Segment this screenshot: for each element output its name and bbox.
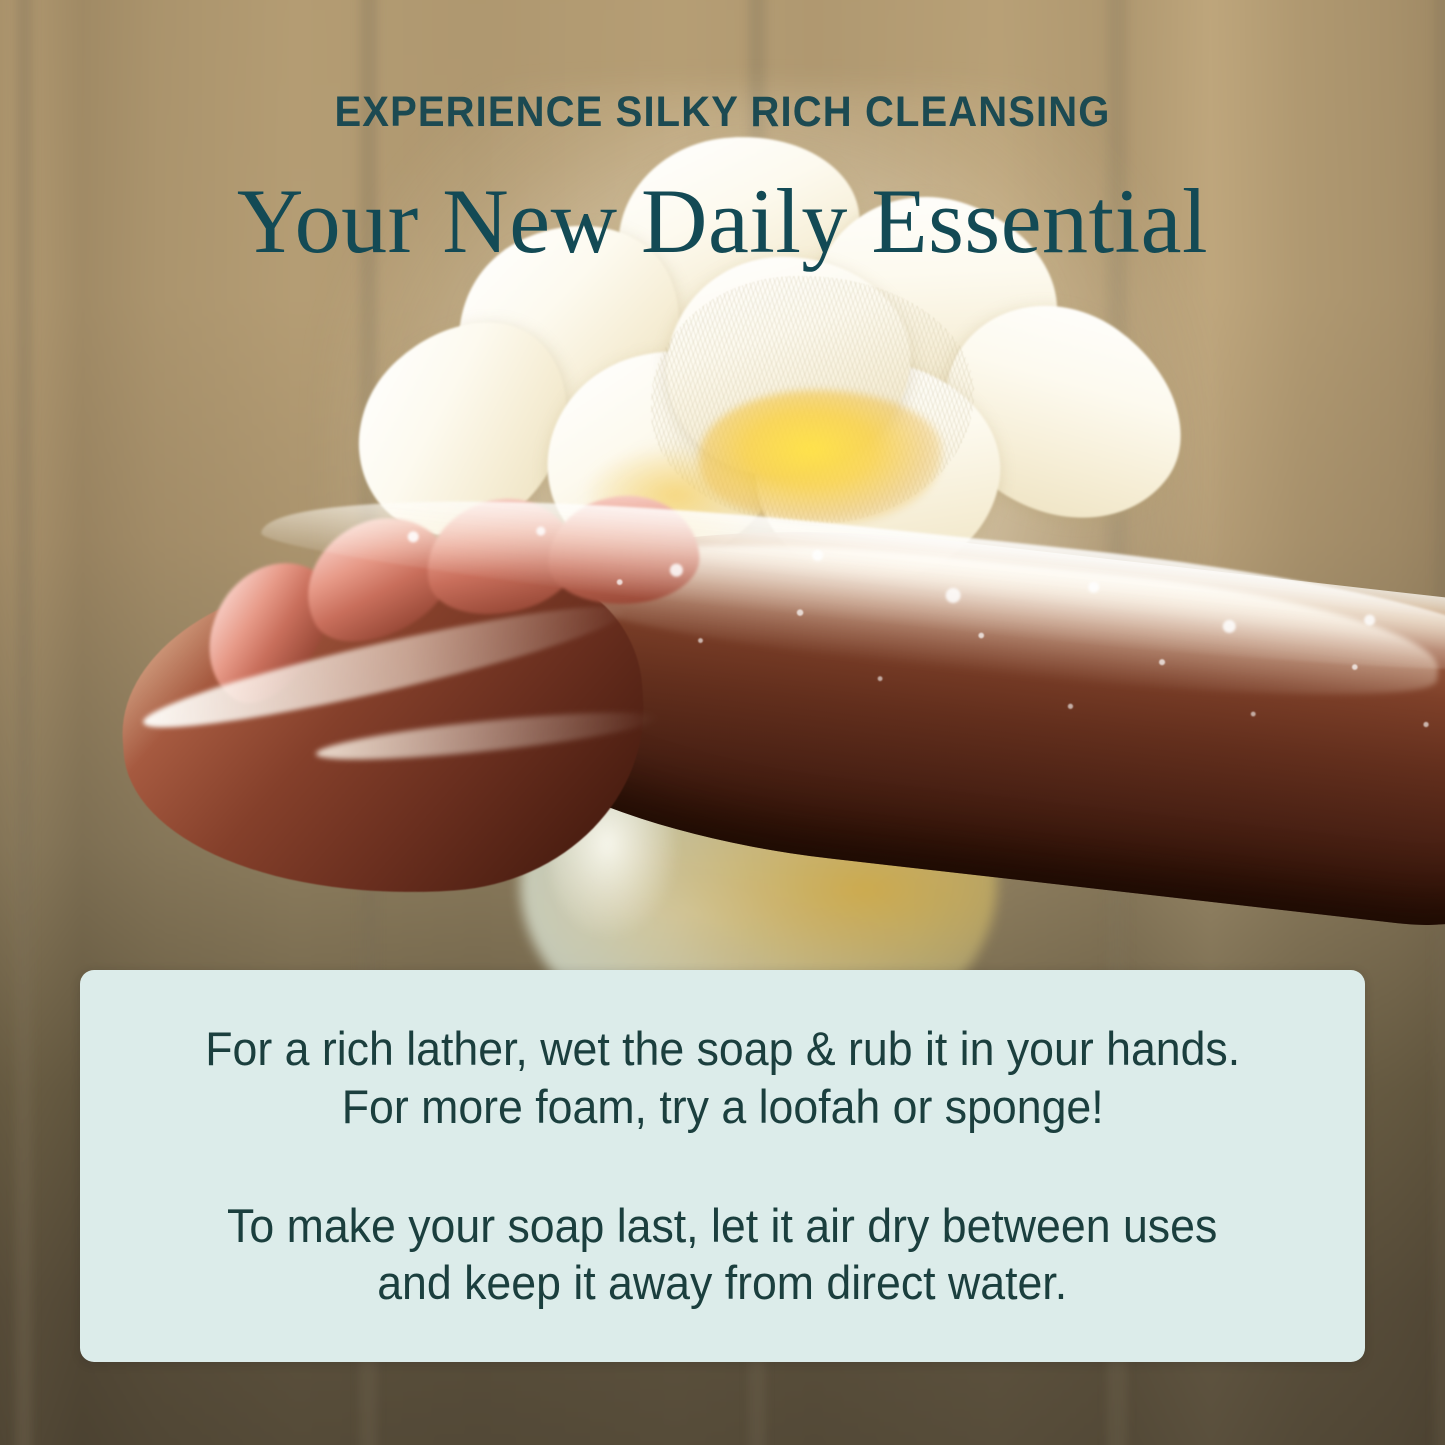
instruction-line: For a rich lather, wet the soap & rub it… xyxy=(205,1022,1240,1075)
instruction-paragraph-1: For a rich lather, wet the soap & rub it… xyxy=(205,1020,1240,1135)
instruction-line: and keep it away from direct water. xyxy=(378,1256,1068,1309)
promo-graphic: EXPERIENCE SILKY RICH CLEANSING Your New… xyxy=(0,0,1445,1445)
lathered-arm xyxy=(123,513,1445,947)
eyebrow-text: EXPERIENCE SILKY RICH CLEANSING xyxy=(51,88,1395,137)
instruction-line: To make your soap last, let it air dry b… xyxy=(227,1199,1217,1252)
page-title: Your New Daily Essential xyxy=(0,168,1445,274)
instruction-card: For a rich lather, wet the soap & rub it… xyxy=(80,970,1365,1362)
instruction-line: For more foam, try a loofah or sponge! xyxy=(342,1080,1104,1133)
instruction-paragraph-2: To make your soap last, let it air dry b… xyxy=(227,1197,1217,1312)
